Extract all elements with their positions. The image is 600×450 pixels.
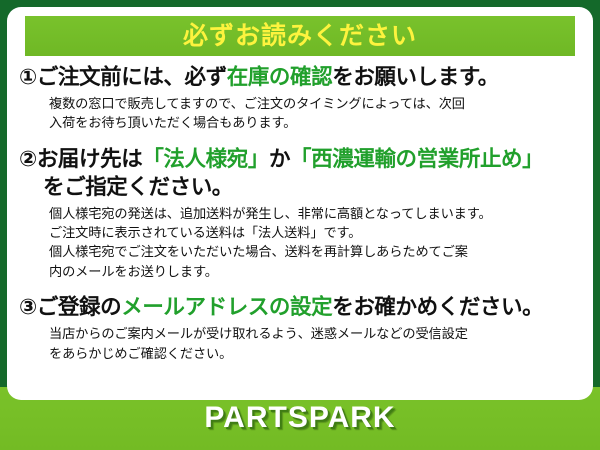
heading-text: をお願いします。 — [332, 65, 499, 89]
notice-item-heading-line2: をご指定ください。 — [19, 174, 583, 202]
heading-text: ご登録の — [37, 295, 121, 319]
notice-item: ②お届け先は「法人様宛」か「西濃運輸の営業所止め」をご指定ください。個人様宅宛の… — [7, 146, 593, 282]
notice-item-heading: ①ご注文前には、必ず在庫の確認をお願いします。 — [19, 64, 583, 92]
notice-body-line: 複数の窓口で販売してますので、ご注文のタイミングによっては、次回 — [49, 94, 583, 113]
notice-card: PARTSPARK 必ずお読みください ①ご注文前には、必ず在庫の確認をお願いし… — [0, 0, 600, 450]
notice-item-heading: ②お届け先は「法人様宛」か「西濃運輸の営業所止め」 — [19, 146, 583, 174]
content-panel: 必ずお読みください ①ご注文前には、必ず在庫の確認をお願いします。複数の窓口で販… — [7, 7, 593, 400]
heading-text: お届け先は — [37, 147, 143, 171]
notice-item-heading: ③ご登録のメールアドレスの設定をお確かめください。 — [19, 294, 583, 322]
notice-item: ③ご登録のメールアドレスの設定をお確かめください。当店からのご案内メールが受け取… — [7, 294, 593, 363]
heading-text: か — [269, 147, 290, 171]
notice-item-number: ③ — [19, 295, 37, 319]
heading-highlight: メールアドレスの設定 — [121, 295, 332, 319]
notice-body-line: 個人様宅宛の発送は、追加送料が発生し、非常に高額となってしまいます。 — [49, 204, 583, 223]
notice-item-body: 複数の窓口で販売してますので、ご注文のタイミングによっては、次回入荷をお待ち頂い… — [19, 94, 583, 133]
heading-text: をお確かめください。 — [332, 295, 543, 319]
heading-highlight: 「法人様宛」 — [142, 147, 269, 171]
heading-highlight: 在庫の確認 — [227, 65, 333, 89]
page-title: 必ずお読みください — [183, 24, 417, 49]
header-banner: 必ずお読みください — [25, 16, 575, 56]
notice-body-line: 入荷をお待ち頂いただく場合もあります。 — [49, 113, 583, 132]
notice-item-number: ② — [19, 147, 37, 171]
heading-highlight: 「西濃運輸の営業所止め」 — [290, 147, 543, 171]
notice-item-number: ① — [19, 65, 37, 89]
notice-body-line: 内のメールをお送りします。 — [49, 262, 583, 281]
brand-name: PARTSPARK — [0, 401, 600, 435]
notice-body-line: 当店からのご案内メールが受け取れるよう、迷惑メールなどの受信設定 — [49, 324, 583, 343]
notice-body-line: ご注文時に表示されている送料は「法人送料」です。 — [49, 223, 583, 242]
notice-item: ①ご注文前には、必ず在庫の確認をお願いします。複数の窓口で販売してますので、ご注… — [7, 64, 593, 133]
notice-body-line: をあらかじめご確認ください。 — [49, 344, 583, 363]
notice-item-body: 個人様宅宛の発送は、追加送料が発生し、非常に高額となってしまいます。ご注文時に表… — [19, 204, 583, 282]
heading-text: ご注文前には、必ず — [37, 65, 227, 89]
notice-items-list: ①ご注文前には、必ず在庫の確認をお願いします。複数の窓口で販売してますので、ご注… — [7, 64, 593, 363]
notice-item-body: 当店からのご案内メールが受け取れるよう、迷惑メールなどの受信設定をあらかじめご確… — [19, 324, 583, 363]
notice-body-line: 個人様宅宛でご注文をいただいた場合、送料を再計算しあらためてご案 — [49, 242, 583, 261]
